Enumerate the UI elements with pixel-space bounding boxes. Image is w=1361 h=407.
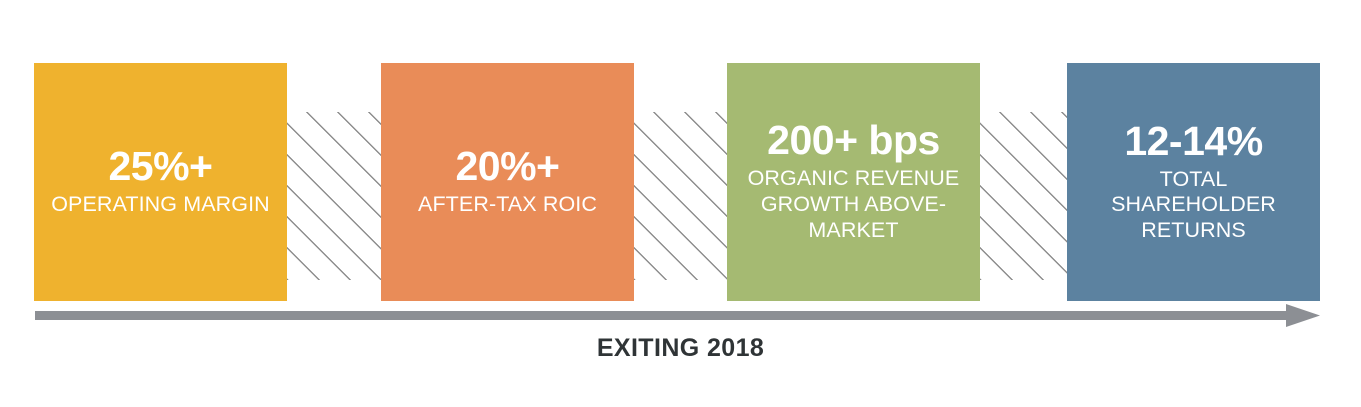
timeline-caption: EXITING 2018	[0, 334, 1361, 363]
metric-label: OPERATING MARGIN	[51, 192, 270, 218]
metric-panel-total-shareholder-returns: 12-14% TOTAL SHAREHOLDER RETURNS	[1067, 63, 1320, 301]
metric-label: ORGANIC REVENUE GROWTH ABOVE-MARKET	[741, 166, 966, 243]
arrow-icon	[35, 304, 1320, 327]
metric-panel-operating-margin: 25%+ OPERATING MARGIN	[34, 63, 287, 301]
metric-value: 20%+	[455, 146, 559, 187]
metric-panel-after-tax-roic: 20%+ AFTER-TAX ROIC	[381, 63, 634, 301]
hatch-connector-1	[287, 112, 381, 280]
metric-value: 25%+	[108, 146, 212, 187]
targets-infographic: 25%+ OPERATING MARGIN 20%+ AFTER-TAX ROI…	[0, 0, 1361, 407]
metric-value: 200+ bps	[767, 120, 940, 161]
hatch-connector-3	[980, 112, 1067, 280]
metric-label: AFTER-TAX ROIC	[418, 192, 597, 218]
metric-label: TOTAL SHAREHOLDER RETURNS	[1101, 167, 1286, 243]
metric-value: 12-14%	[1124, 121, 1262, 162]
hatch-connector-2	[634, 112, 727, 280]
timeline-arrow	[0, 300, 1361, 336]
metric-panel-organic-revenue-growth: 200+ bps ORGANIC REVENUE GROWTH ABOVE-MA…	[727, 63, 980, 301]
